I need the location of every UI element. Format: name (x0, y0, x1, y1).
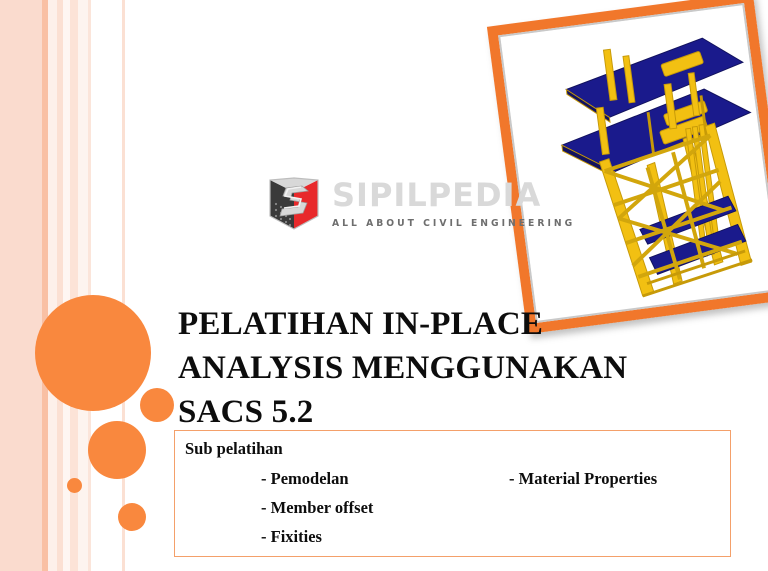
stripe-1 (0, 0, 42, 571)
subtitle-heading: Sub pelatihan (185, 439, 283, 459)
logo-wordmark: SIPILPEDIA (332, 179, 583, 211)
circle-tiny (67, 478, 82, 493)
decorative-stripes (0, 0, 180, 571)
jacket-platform-3d-model-icon (500, 5, 768, 317)
stripe-9 (122, 0, 125, 571)
sipilpedia-cube-icon (268, 176, 320, 232)
page-title: PELATIHAN IN-PLACE ANALYSIS MENGGUNAKAN … (178, 303, 698, 435)
offshore-platform-picture-frame (487, 0, 768, 334)
picture-frame-mat (498, 3, 768, 323)
circle-medium (88, 421, 146, 479)
page-title-line-3: SACS 5.2 (178, 391, 698, 435)
page-title-line-2: ANALYSIS MENGGUNAKAN (178, 347, 698, 391)
subtitle-box: Sub pelatihan - Pemodelan - Member offse… (174, 430, 731, 557)
sipilpedia-logo: SIPILPEDIA ALL ABOUT CIVIL ENGINEERING (268, 176, 583, 232)
subtitle-item-material-properties: - Material Properties (509, 469, 657, 489)
logo-tagline: ALL ABOUT CIVIL ENGINEERING (332, 219, 575, 229)
page-title-line-1: PELATIHAN IN-PLACE (178, 303, 698, 347)
logo-text-block: SIPILPEDIA ALL ABOUT CIVIL ENGINEERING (332, 179, 583, 229)
circle-large (35, 295, 151, 411)
circle-small (140, 388, 174, 422)
subtitle-item-member-offset: - Member offset (261, 498, 373, 518)
stripe-3 (48, 0, 57, 571)
circle-xsmall (118, 503, 146, 531)
stripe-8 (88, 0, 91, 571)
subtitle-item-fixities: - Fixities (261, 527, 322, 547)
subtitle-item-pemodelan: - Pemodelan (261, 469, 349, 489)
presentation-slide: SIPILPEDIA ALL ABOUT CIVIL ENGINEERING P… (0, 0, 768, 571)
